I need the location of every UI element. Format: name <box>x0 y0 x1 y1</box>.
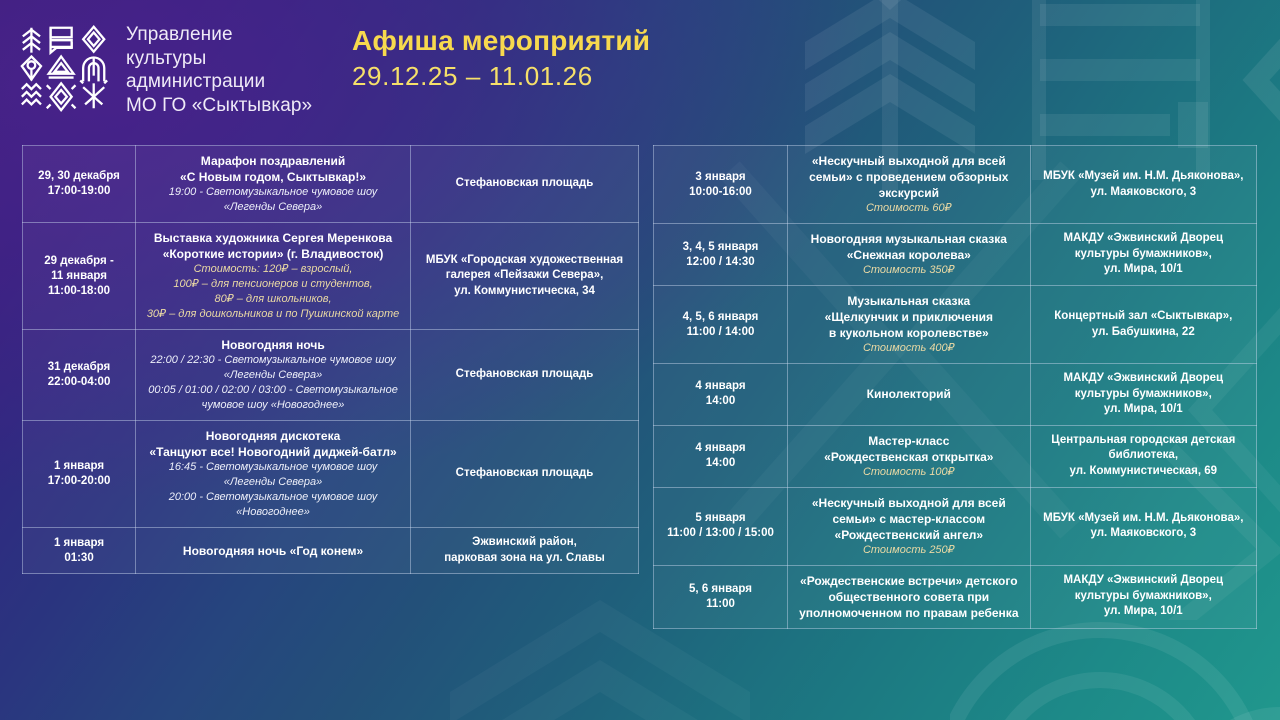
komi-ornament-logo-icon <box>18 22 110 114</box>
events-table-right: 3 января10:00-16:00«Нескучный выходной д… <box>653 145 1257 629</box>
event-venue-cell: Стефановская площадь <box>411 146 639 223</box>
event-title-cell: Выставка художника Сергея Меренкова«Коро… <box>136 223 411 330</box>
organization-name: Управление культуры администрации МО ГО … <box>126 22 312 117</box>
table-row: 5 января11:00 / 13:00 / 15:00«Нескучный … <box>654 487 1257 565</box>
table-row: 29 декабря -11 января11:00-18:00Выставка… <box>23 223 639 330</box>
event-venue-cell: МАКДУ «Эжвинский Дворецкультуры бумажник… <box>1030 364 1256 426</box>
event-title-cell: «Нескучный выходной для всейсемьи» с про… <box>788 146 1031 224</box>
table-row: 4 января14:00КинолекторийМАКДУ «Эжвински… <box>654 364 1257 426</box>
event-title-cell: Марафон поздравлений«С Новым годом, Сыкт… <box>136 146 411 223</box>
event-price-text: Стоимость 350₽ <box>796 263 1022 278</box>
event-title-text: Новогодняя дискотека«Танцуют все! Нового… <box>149 429 396 459</box>
event-date-cell: 29 декабря -11 января11:00-18:00 <box>23 223 136 330</box>
event-date-cell: 5, 6 января11:00 <box>654 565 788 628</box>
table-row: 29, 30 декабря17:00-19:00Марафон поздрав… <box>23 146 639 223</box>
event-date-cell: 5 января11:00 / 13:00 / 15:00 <box>654 487 788 565</box>
event-date-cell: 1 января01:30 <box>23 528 136 574</box>
date-range: 29.12.25 – 11.01.26 <box>352 60 650 92</box>
event-price-text: Стоимость: 120₽ – взрослый,100₽ – для пе… <box>144 262 402 322</box>
event-title-cell: Новогодняя музыкальная сказка«Снежная ко… <box>788 224 1031 286</box>
event-venue-cell: Концертный зал «Сыктывкар»,ул. Бабушкина… <box>1030 286 1256 364</box>
event-title-cell: «Рождественские встречи» детскогообществ… <box>788 565 1031 628</box>
logo-block: Управление культуры администрации МО ГО … <box>18 22 312 117</box>
event-details-text: 19:00 - Светомузыкальное чумовое шоу«Лег… <box>144 185 402 215</box>
event-title-text: Выставка художника Сергея Меренкова«Коро… <box>154 231 392 261</box>
title-block: Афиша мероприятий 29.12.25 – 11.01.26 <box>352 24 650 92</box>
event-venue-cell: Эжвинский район,парковая зона на ул. Сла… <box>411 528 639 574</box>
table-row: 3 января10:00-16:00«Нескучный выходной д… <box>654 146 1257 224</box>
event-venue-cell: МАКДУ «Эжвинский Дворецкультуры бумажник… <box>1030 224 1256 286</box>
event-venue-cell: МБУК «Городская художественнаягалерея «П… <box>411 223 639 330</box>
event-title-text: Новогодняя музыкальная сказка«Снежная ко… <box>811 232 1007 262</box>
event-title-text: Музыкальная сказка«Щелкунчик и приключен… <box>825 294 993 340</box>
event-details-text: 16:45 - Светомузыкальное чумовое шоу«Лег… <box>144 460 402 520</box>
event-title-cell: Мастер-класс«Рождественская открытка»Сто… <box>788 425 1031 487</box>
event-price-text: Стоимость 100₽ <box>796 465 1022 480</box>
event-title-cell: «Нескучный выходной для всейсемьи» с мас… <box>788 487 1031 565</box>
event-title-cell: Музыкальная сказка«Щелкунчик и приключен… <box>788 286 1031 364</box>
event-title-text: «Нескучный выходной для всейсемьи» с про… <box>809 154 1008 200</box>
event-title-text: Мастер-класс«Рождественская открытка» <box>824 434 993 464</box>
event-title-text: Новогодняя ночь <box>221 338 324 352</box>
event-title-text: «Рождественские встречи» детскогообществ… <box>799 574 1018 620</box>
table-row: 1 января17:00-20:00Новогодняя дискотека«… <box>23 421 639 528</box>
event-venue-cell: МБУК «Музей им. Н.М. Дьяконова»,ул. Маяк… <box>1030 487 1256 565</box>
event-date-cell: 29, 30 декабря17:00-19:00 <box>23 146 136 223</box>
event-price-text: Стоимость 400₽ <box>796 341 1022 356</box>
table-row: 4 января14:00Мастер-класс«Рождественская… <box>654 425 1257 487</box>
event-venue-cell: МАКДУ «Эжвинский Дворецкультуры бумажник… <box>1030 565 1256 628</box>
event-venue-cell: МБУК «Музей им. Н.М. Дьяконова»,ул. Маяк… <box>1030 146 1256 224</box>
table-row: 3, 4, 5 января12:00 / 14:30Новогодняя му… <box>654 224 1257 286</box>
event-date-cell: 3 января10:00-16:00 <box>654 146 788 224</box>
event-date-cell: 4, 5, 6 января11:00 / 14:00 <box>654 286 788 364</box>
event-date-cell: 31 декабря22:00-04:00 <box>23 330 136 421</box>
event-date-cell: 1 января17:00-20:00 <box>23 421 136 528</box>
event-title-text: Новогодняя ночь «Год конем» <box>183 544 363 558</box>
event-venue-cell: Центральная городская детскаябиблиотека,… <box>1030 425 1256 487</box>
event-details-text: 22:00 / 22:30 - Светомузыкальное чумовое… <box>144 353 402 413</box>
table-row: 1 января01:30Новогодняя ночь «Год конем»… <box>23 528 639 574</box>
page-title: Афиша мероприятий <box>352 24 650 58</box>
event-title-cell: Кинолекторий <box>788 364 1031 426</box>
event-price-text: Стоимость 250₽ <box>796 543 1022 558</box>
event-title-cell: Новогодняя ночь «Год конем» <box>136 528 411 574</box>
event-title-cell: Новогодняя ночь22:00 / 22:30 - Светомузы… <box>136 330 411 421</box>
event-title-text: «Нескучный выходной для всейсемьи» с мас… <box>812 496 1006 542</box>
events-table-left: 29, 30 декабря17:00-19:00Марафон поздрав… <box>22 145 639 574</box>
event-date-cell: 3, 4, 5 января12:00 / 14:30 <box>654 224 788 286</box>
table-row: 5, 6 января11:00«Рождественские встречи»… <box>654 565 1257 628</box>
poster-stage: Управление культуры администрации МО ГО … <box>0 0 1280 720</box>
table-row: 4, 5, 6 января11:00 / 14:00Музыкальная с… <box>654 286 1257 364</box>
event-date-cell: 4 января14:00 <box>654 364 788 426</box>
event-title-text: Кинолекторий <box>867 387 951 401</box>
event-venue-cell: Стефановская площадь <box>411 421 639 528</box>
event-venue-cell: Стефановская площадь <box>411 330 639 421</box>
table-row: 31 декабря22:00-04:00Новогодняя ночь22:0… <box>23 330 639 421</box>
event-title-text: Марафон поздравлений«С Новым годом, Сыкт… <box>180 154 366 184</box>
poster-header: Управление культуры администрации МО ГО … <box>0 0 1280 132</box>
event-date-cell: 4 января14:00 <box>654 425 788 487</box>
event-title-cell: Новогодняя дискотека«Танцуют все! Нового… <box>136 421 411 528</box>
event-price-text: Стоимость 60₽ <box>796 201 1022 216</box>
